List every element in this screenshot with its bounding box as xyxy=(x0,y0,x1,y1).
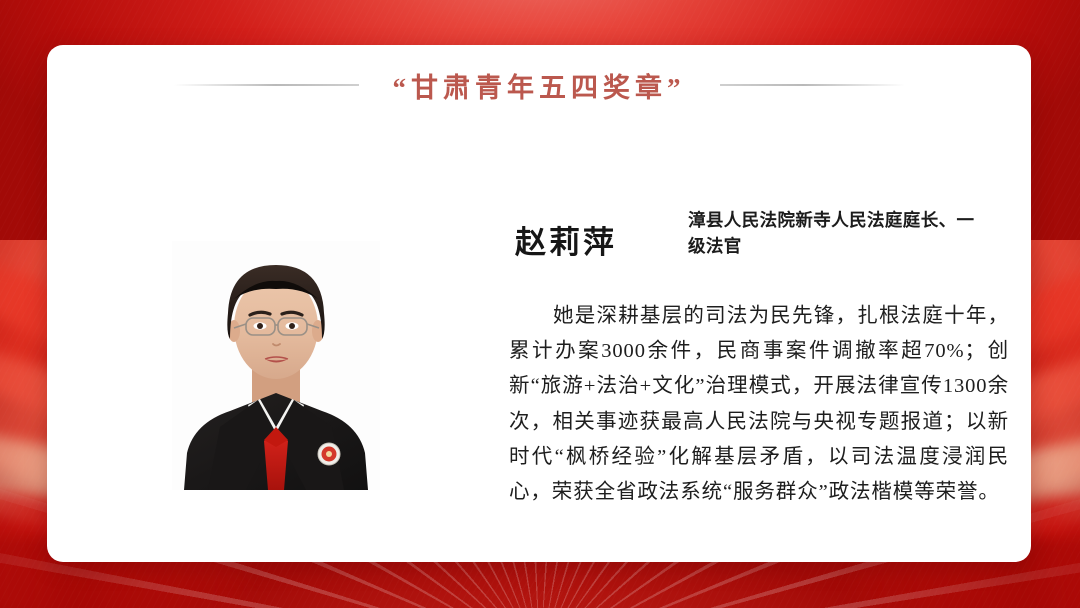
heading-rule-left xyxy=(174,84,359,86)
portrait-photo xyxy=(172,241,380,490)
heading: “甘肃青年五四奖章” xyxy=(47,62,1031,108)
award-title: “甘肃青年五四奖章” xyxy=(393,66,686,105)
poster-canvas: “甘肃青年五四奖章” xyxy=(0,0,1080,608)
person-name: 赵莉萍 xyxy=(515,217,617,262)
person-role: 漳县人民法院新寺人民法庭庭长、一级法官 xyxy=(688,207,988,259)
content-card: “甘肃青年五四奖章” xyxy=(47,45,1031,562)
person-bio: 她是深耕基层的司法为民先锋，扎根法庭十年，累计办案3000余件，民商事案件调撤率… xyxy=(509,299,1009,510)
heading-rule-right xyxy=(720,84,905,86)
